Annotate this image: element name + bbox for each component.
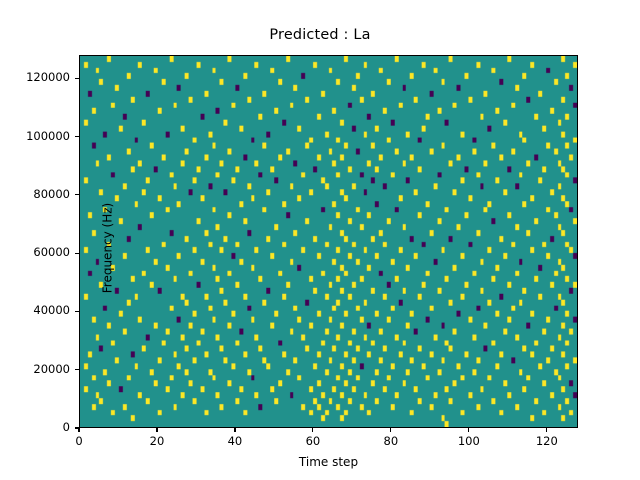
x-tick-mark — [312, 428, 313, 432]
y-tick-label: 80000 — [0, 187, 70, 201]
x-tick-label: 80 — [384, 434, 399, 448]
x-tick-label: 100 — [458, 434, 480, 448]
x-axis-label: Time step — [79, 455, 578, 469]
y-tick-label: 40000 — [0, 303, 70, 317]
heatmap-axes — [79, 55, 578, 428]
x-tick-mark — [234, 428, 235, 432]
y-tick-mark — [75, 369, 79, 370]
y-tick-mark — [75, 78, 79, 79]
y-tick-label: 100000 — [0, 129, 70, 143]
x-tick-mark — [546, 428, 547, 432]
x-tick-mark — [390, 428, 391, 432]
spectrogram-heatmap — [80, 56, 577, 427]
x-tick-label: 120 — [536, 434, 558, 448]
x-tick-mark — [156, 428, 157, 432]
y-tick-mark — [75, 136, 79, 137]
y-tick-label: 0 — [0, 420, 70, 434]
chart-title: Predicted : La — [0, 27, 640, 43]
y-axis-label: Frequency (Hz) — [101, 62, 115, 435]
y-tick-label: 120000 — [0, 70, 70, 84]
matplotlib-figure: Predicted : La 0200004000060000800001000… — [0, 0, 640, 480]
y-tick-mark — [75, 194, 79, 195]
x-tick-label: 60 — [306, 434, 321, 448]
x-tick-mark — [468, 428, 469, 432]
y-tick-label: 60000 — [0, 245, 70, 259]
y-tick-mark — [75, 311, 79, 312]
y-tick-label: 20000 — [0, 362, 70, 376]
x-tick-mark — [78, 428, 79, 432]
x-tick-label: 40 — [228, 434, 243, 448]
x-tick-label: 20 — [150, 434, 165, 448]
x-tick-label: 0 — [75, 434, 82, 448]
y-tick-mark — [75, 253, 79, 254]
